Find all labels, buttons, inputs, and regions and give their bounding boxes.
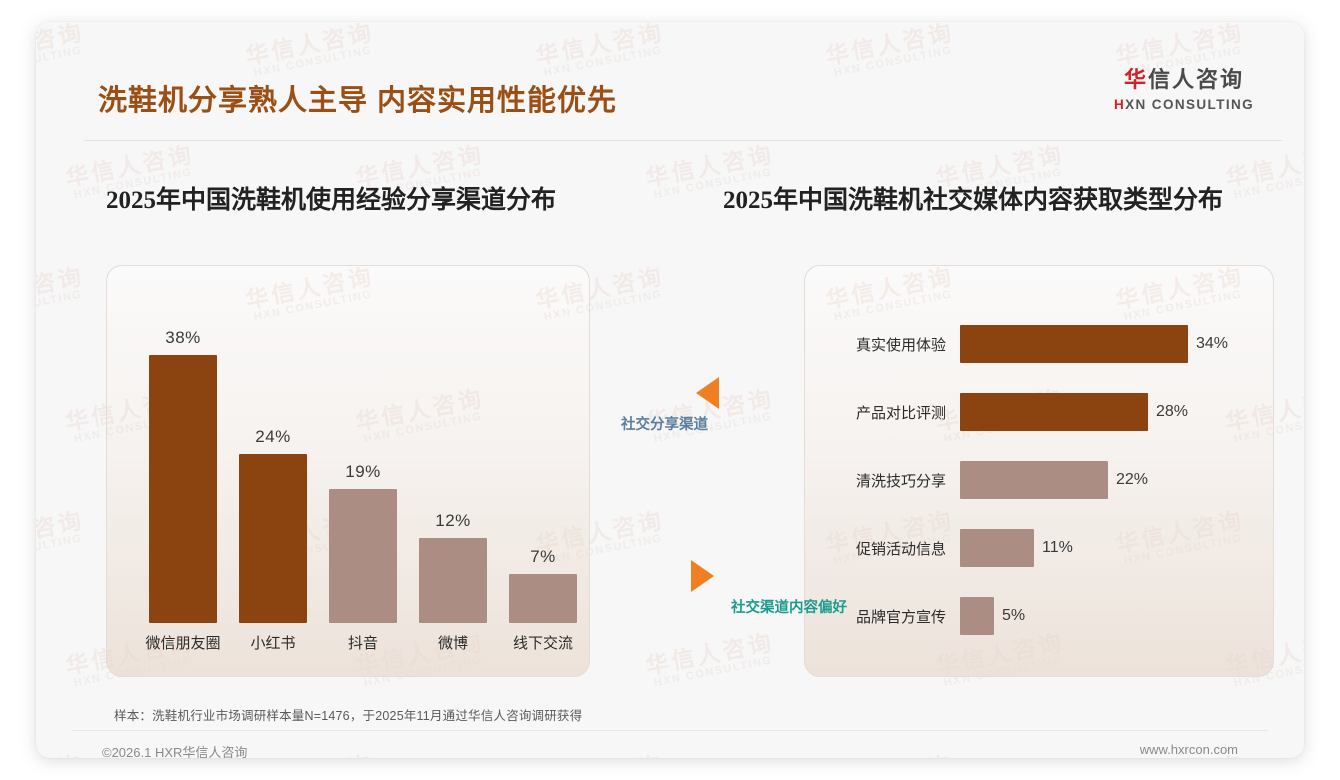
bar [960, 597, 994, 635]
logo-en-accent: H [1114, 97, 1125, 112]
bar [960, 325, 1188, 363]
watermark-mark: 华信人咨询HXN CONSULTING [534, 752, 669, 758]
bar [960, 461, 1108, 499]
bar-category-label: 促销活动信息 [804, 538, 960, 559]
bar-column: 19%抖音 [329, 462, 397, 623]
logo-english-text: HXN CONSULTING [1094, 97, 1274, 112]
bar-category-label: 抖音 [348, 632, 378, 653]
watermark-cn: 华信人咨询 [1224, 142, 1304, 191]
right-arrow-icon [691, 560, 714, 592]
share-channel-label: 社交分享渠道 [621, 413, 708, 434]
logo-cn-accent: 华 [1124, 67, 1148, 92]
slide-container: 华信人咨询HXN CONSULTING华信人咨询HXN CONSULTING华信… [36, 22, 1304, 758]
share-channels-bar-chart: 38%微信朋友圈24%小红书19%抖音12%微博7%线下交流 [106, 265, 588, 675]
bar-value-label: 5% [1002, 607, 1025, 625]
bar-value-label: 28% [1156, 403, 1188, 421]
bar-category-label: 微信朋友圈 [145, 632, 220, 653]
bar [960, 529, 1034, 567]
bar-column: 38%微信朋友圈 [149, 328, 217, 623]
watermark-cn: 华信人咨询 [244, 752, 376, 758]
bar-value-label: 38% [149, 328, 217, 348]
left-chart-title: 2025年中国洗鞋机使用经验分享渠道分布 [106, 180, 556, 216]
slide-header: 洗鞋机分享熟人主导 内容实用性能优先 华信人咨询 HXN CONSULTING [36, 22, 1304, 118]
bar [419, 538, 487, 623]
bar [509, 574, 577, 623]
watermark-mark: 华信人咨询HXN CONSULTING [244, 752, 379, 758]
bar-category-label: 微博 [438, 632, 468, 653]
left-arrow-icon [696, 377, 719, 409]
bar-category-label: 真实使用体验 [804, 334, 960, 355]
bar-category-label: 小红书 [250, 632, 295, 653]
logo-chinese-text: 华信人咨询 [1094, 62, 1274, 94]
bar-value-label: 12% [419, 511, 487, 531]
bar-value-label: 34% [1196, 335, 1228, 353]
header-divider [84, 140, 1282, 141]
watermark-cn: 华信人咨询 [644, 630, 776, 679]
bar [329, 489, 397, 623]
bar-value-label: 19% [329, 462, 397, 482]
watermark-en: HXN CONSULTING [1228, 166, 1304, 203]
logo-en-rest: XN CONSULTING [1125, 97, 1254, 112]
watermark-en: HXN CONSULTING [36, 532, 88, 569]
watermark-mark: 华信人咨询HXN CONSULTING [824, 752, 959, 758]
bar-value-label: 11% [1042, 539, 1073, 557]
watermark-en: HXN CONSULTING [36, 288, 88, 325]
bar-category-label: 线下交流 [513, 632, 573, 653]
bar-row: 产品对比评测28% [804, 393, 1188, 431]
watermark-mark: 华信人咨询HXN CONSULTING [36, 264, 88, 324]
footer-website: www.hxrcon.com [1140, 742, 1238, 757]
content-pref-annotation: 社交渠道内容偏好 [691, 560, 851, 630]
watermark-mark: 华信人咨询HXN CONSULTING [36, 508, 88, 568]
footer-copyright: ©2026.1 HXR华信人咨询 [102, 742, 247, 758]
watermark-cn: 华信人咨询 [824, 752, 956, 758]
page-title: 洗鞋机分享熟人主导 内容实用性能优先 [98, 77, 617, 119]
content-types-bar-chart: 真实使用体验34%产品对比评测28%清洗技巧分享22%促销活动信息11%品牌官方… [804, 265, 1272, 675]
watermark-cn: 华信人咨询 [534, 752, 666, 758]
watermark-cn: 华信人咨询 [36, 508, 86, 557]
bar [239, 454, 307, 623]
watermark-mark: 华信人咨询HXN CONSULTING [36, 752, 88, 758]
bar-category-label: 产品对比评测 [804, 402, 960, 423]
content-pref-label: 社交渠道内容偏好 [731, 596, 847, 617]
company-logo: 华信人咨询 HXN CONSULTING [1094, 62, 1274, 112]
watermark-en: HXN CONSULTING [648, 654, 778, 691]
bar-column: 24%小红书 [239, 427, 307, 623]
watermark-mark: 华信人咨询HXN CONSULTING [644, 630, 779, 690]
logo-cn-rest: 信人咨询 [1148, 67, 1244, 92]
watermark-cn: 华信人咨询 [36, 752, 86, 758]
bar-column: 7%线下交流 [509, 547, 577, 623]
bar-row: 清洗技巧分享22% [804, 461, 1148, 499]
bar-value-label: 24% [239, 427, 307, 447]
footer-divider [72, 730, 1268, 731]
bar-row: 真实使用体验34% [804, 325, 1228, 363]
bar [960, 393, 1148, 431]
bar [149, 355, 217, 623]
bar-category-label: 清洗技巧分享 [804, 470, 960, 491]
bar-value-label: 22% [1116, 471, 1148, 489]
bar-column: 12%微博 [419, 511, 487, 623]
share-channel-annotation: 社交分享渠道 [621, 377, 751, 447]
sample-note: 样本：洗鞋机行业市场调研样本量N=1476，于2025年11月通过华信人咨询调研… [114, 705, 582, 724]
right-chart-title: 2025年中国洗鞋机社交媒体内容获取类型分布 [723, 180, 1223, 216]
watermark-mark: 华信人咨询HXN CONSULTING [1224, 142, 1304, 202]
bar-value-label: 7% [509, 547, 577, 567]
watermark-cn: 华信人咨询 [36, 264, 86, 313]
